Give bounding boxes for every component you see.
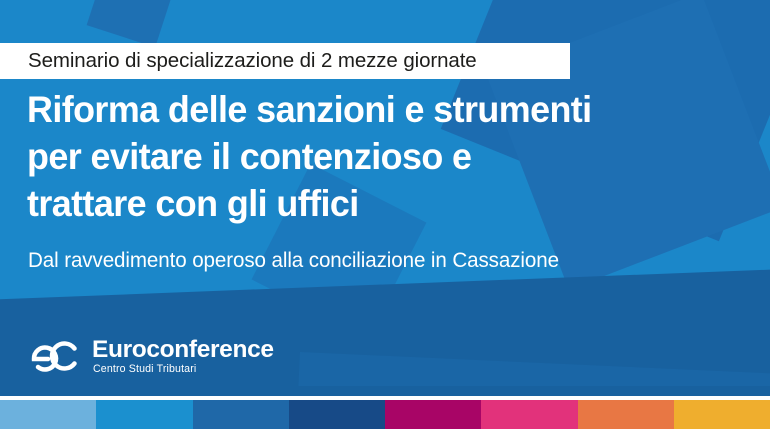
brand-tagline: Centro Studi Tributari (92, 363, 274, 376)
color-segment-blue (96, 400, 192, 429)
page-title: Riforma delle sanzioni e strumenti per e… (27, 86, 747, 227)
subtitle: Dal ravvedimento operoso alla conciliazi… (28, 249, 559, 273)
color-segment-pink (481, 400, 577, 429)
color-bar (0, 400, 770, 429)
color-segment-yellow-orange (674, 400, 770, 429)
title-line-3: trattare con gli uffici (27, 180, 725, 227)
brand-logo: Euroconference Centro Studi Tributari (27, 336, 274, 376)
color-segment-light-blue (0, 400, 96, 429)
brand-name: Euroconference (92, 337, 274, 363)
title-line-2: per evitare il contenzioso e (27, 133, 725, 180)
title-line-1: Riforma delle sanzioni e strumenti (27, 86, 725, 133)
color-segment-dark-blue (289, 400, 385, 429)
color-segment-magenta (385, 400, 481, 429)
ec-monogram-icon (27, 336, 83, 376)
promotional-banner: Seminario di specializzazione di 2 mezze… (0, 0, 770, 429)
footer-fill (0, 386, 770, 396)
eyebrow-band: Seminario di specializzazione di 2 mezze… (0, 43, 570, 79)
color-segment-medium-blue (193, 400, 289, 429)
eyebrow-text: Seminario di specializzazione di 2 mezze… (0, 49, 477, 73)
color-segment-orange (578, 400, 674, 429)
brand-logo-text: Euroconference Centro Studi Tributari (92, 337, 274, 376)
